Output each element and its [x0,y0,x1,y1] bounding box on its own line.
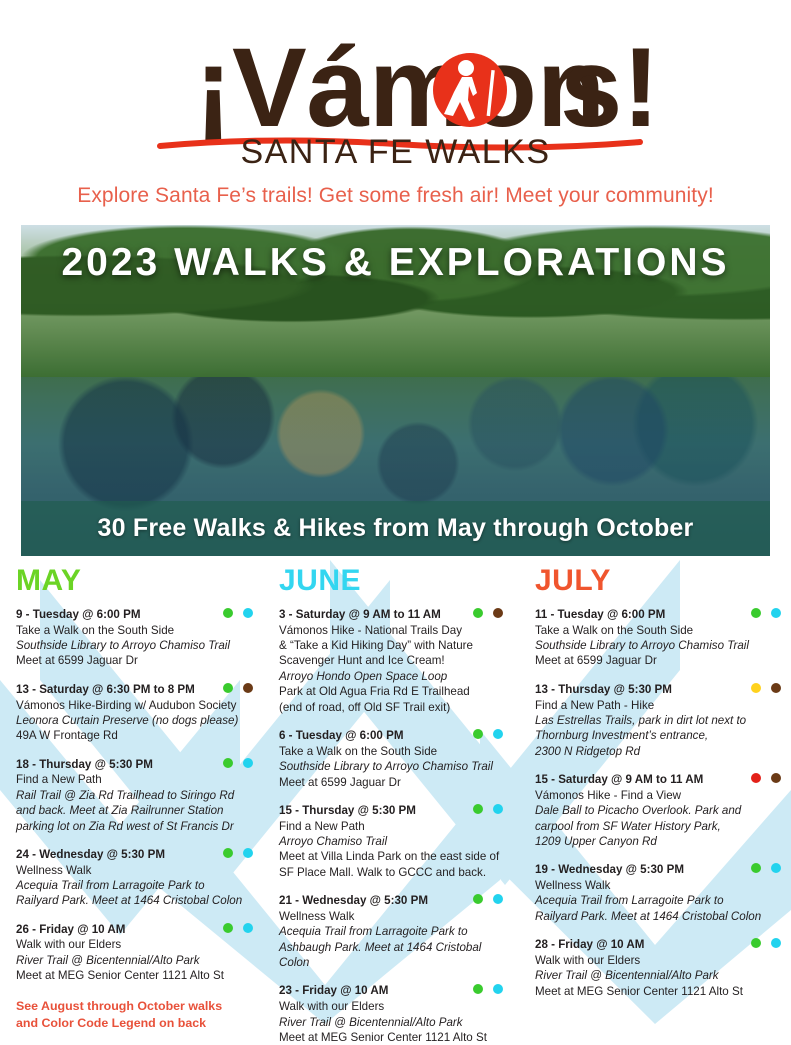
event-meet: Meet at Villa Linda Park on the east sid… [279,849,511,864]
event-name-2: & “Take a Kid Hiking Day” with Nature [279,638,511,653]
wordmark-text-tail: s! [560,25,660,150]
color-code-dots [473,984,503,994]
hero-banner: 2023 WALKS & EXPLORATIONS 30 Free Walks … [21,225,770,556]
dot-green [223,848,233,858]
color-code-dots [751,938,781,948]
event-item[interactable]: 26 - Friday @ 10 AM Walk with our Elders… [16,922,255,984]
dot-green [473,729,483,739]
color-code-dots [223,758,253,768]
event-datetime: 19 - Wednesday @ 5:30 PM [535,862,783,878]
logo-subtitle: SANTA FE WALKS [0,133,791,172]
event-meet: Meet at 6599 Jaguar Dr [16,653,255,668]
dot-brown [493,608,503,618]
event-datetime: 11 - Tuesday @ 6:00 PM [535,607,783,623]
color-code-dots [473,894,503,904]
month-column-june: JUNE 3 - Saturday @ 9 AM to 11 AM Vámono… [263,566,519,1024]
dot-green [223,758,233,768]
dot-cyan [243,608,253,618]
dot-cyan [493,984,503,994]
event-item[interactable]: 15 - Thursday @ 5:30 PM Find a New Path … [279,803,511,880]
event-route: Acequia Trail from Larragoite Park to [279,924,511,939]
event-item[interactable]: 28 - Friday @ 10 AM Walk with our Elders… [535,937,783,999]
event-name: Walk with our Elders [535,953,783,968]
note-line-1: See August through October walks [16,998,255,1015]
event-meet: Railyard Park. Meet at 1464 Cristobal Co… [535,909,783,924]
event-route-2: Thornburg Investment’s entrance, [535,728,783,743]
event-meet: 49A W Frontage Rd [16,728,255,743]
month-heading-may: MAY [16,566,255,596]
event-item[interactable]: 13 - Thursday @ 5:30 PM Find a New Path … [535,682,783,759]
event-item[interactable]: 15 - Saturday @ 9 AM to 11 AM Vámonos Hi… [535,772,783,849]
color-code-dots [473,608,503,618]
event-meet-2: SF Place Mall. Walk to GCCC and back. [279,865,511,880]
event-name: Walk with our Elders [16,937,255,952]
dot-cyan [493,804,503,814]
dot-green [751,608,761,618]
event-name: Wellness Walk [535,878,783,893]
event-meet: Park at Old Agua Fria Rd E Trailhead [279,684,511,699]
color-code-dots [473,804,503,814]
event-route: Acequia Trail from Larragoite Park to [535,893,783,908]
dot-cyan [771,938,781,948]
event-route-2: carpool from SF Water History Park, [535,819,783,834]
dot-cyan [771,608,781,618]
dot-cyan [493,729,503,739]
event-name: Walk with our Elders [279,999,511,1014]
event-name-3: Scavenger Hunt and Ice Cream! [279,653,511,668]
event-item[interactable]: 19 - Wednesday @ 5:30 PM Wellness Walk A… [535,862,783,924]
tagline: Explore Santa Fe’s trails! Get some fres… [0,184,791,208]
dot-green [223,683,233,693]
event-datetime: 15 - Saturday @ 9 AM to 11 AM [535,772,783,788]
event-name: Find a New Path [16,772,255,787]
event-route: Rail Trail @ Zia Rd Trailhead to Siringo… [16,788,255,803]
event-route-2: and back. Meet at Zia Railrunner Station [16,803,255,818]
event-route: River Trail @ Bicentennial/Alto Park [279,1015,511,1030]
logo-header: ¡Vámon s! SANTA FE WALKS [0,0,791,178]
dot-green [223,608,233,618]
event-datetime: 24 - Wednesday @ 5:30 PM [16,847,255,863]
event-name: Wellness Walk [16,863,255,878]
event-meet: 2300 N Ridgetop Rd [535,744,783,759]
dot-cyan [243,758,253,768]
event-route: Dale Ball to Picacho Overlook. Park and [535,803,783,818]
calendar-columns: MAY 9 - Tuesday @ 6:00 PM Take a Walk on… [0,566,791,1024]
event-name: Find a New Path - Hike [535,698,783,713]
event-name: Wellness Walk [279,909,511,924]
event-route: Arroyo Chamiso Trail [279,834,511,849]
event-meet: Meet at 6599 Jaguar Dr [279,775,511,790]
event-name: Vámonos Hike - National Trails Day [279,623,511,638]
color-code-dots [223,608,253,618]
color-code-dots [751,773,781,783]
month-column-july: JULY 11 - Tuesday @ 6:00 PM Take a Walk … [519,566,791,1024]
event-route: Leonora Curtain Preserve (no dogs please… [16,713,255,728]
back-page-note: See August through October walks and Col… [16,998,255,1032]
event-item[interactable]: 24 - Wednesday @ 5:30 PM Wellness Walk A… [16,847,255,909]
month-heading-june: JUNE [279,566,511,596]
event-datetime: 13 - Saturday @ 6:30 PM to 8 PM [16,682,255,698]
dot-green [223,923,233,933]
month-heading-july: JULY [535,566,783,596]
color-code-dots [751,863,781,873]
wordmark-text: ¡Vámon [195,25,606,150]
dot-green [751,938,761,948]
dot-green [473,804,483,814]
dot-green [473,984,483,994]
event-route: Acequia Trail from Larragoite Park to [16,878,255,893]
event-meet: parking lot on Zia Rd west of St Francis… [16,819,255,834]
hero-title: 2023 WALKS & EXPLORATIONS [21,241,770,285]
color-code-dots [751,683,781,693]
event-item[interactable]: 23 - Friday @ 10 AM Walk with our Elders… [279,983,511,1045]
event-route: Southside Library to Arroyo Chamiso Trai… [535,638,783,653]
dot-brown [771,773,781,783]
event-name: Find a New Path [279,819,511,834]
dot-cyan [493,894,503,904]
event-meet: Meet at MEG Senior Center 1121 Alto St [279,1030,511,1045]
event-datetime: 9 - Tuesday @ 6:00 PM [16,607,255,623]
color-code-dots [223,923,253,933]
dot-green [751,863,761,873]
event-route: River Trail @ Bicentennial/Alto Park [535,968,783,983]
dot-red [751,773,761,783]
event-route: Southside Library to Arroyo Chamiso Trai… [16,638,255,653]
dot-cyan [771,863,781,873]
month-column-may: MAY 9 - Tuesday @ 6:00 PM Take a Walk on… [0,566,263,1024]
event-route: Las Estrellas Trails, park in dirt lot n… [535,713,783,728]
hero-band-text: 30 Free Walks & Hikes from May through O… [98,514,694,543]
event-meet: Railyard Park. Meet at 1464 Cristobal Co… [16,893,255,908]
event-item[interactable]: 6 - Tuesday @ 6:00 PM Take a Walk on the… [279,728,511,790]
event-route: Arroyo Hondo Open Space Loop [279,669,511,684]
event-meet: 1209 Upper Canyon Rd [535,834,783,849]
event-name: Vámonos Hike-Birding w/ Audubon Society [16,698,255,713]
event-datetime: 26 - Friday @ 10 AM [16,922,255,938]
hero-band: 30 Free Walks & Hikes from May through O… [21,501,770,556]
event-name: Take a Walk on the South Side [16,623,255,638]
event-item[interactable]: 21 - Wednesday @ 5:30 PM Wellness Walk A… [279,893,511,970]
event-item[interactable]: 18 - Thursday @ 5:30 PM Find a New Path … [16,757,255,834]
dot-brown [771,683,781,693]
note-line-2: and Color Code Legend on back [16,1015,255,1032]
event-route: Southside Library to Arroyo Chamiso Trai… [279,759,511,774]
color-code-dots [473,729,503,739]
event-datetime: 18 - Thursday @ 5:30 PM [16,757,255,773]
color-code-dots [223,848,253,858]
event-item[interactable]: 9 - Tuesday @ 6:00 PM Take a Walk on the… [16,607,255,669]
dot-green [473,608,483,618]
event-name: Vámonos Hike - Find a View [535,788,783,803]
dot-green [473,894,483,904]
event-route: River Trail @ Bicentennial/Alto Park [16,953,255,968]
event-meet: Meet at MEG Senior Center 1121 Alto St [16,968,255,983]
event-meet: Meet at MEG Senior Center 1121 Alto St [535,984,783,999]
color-code-dots [223,683,253,693]
event-meet: Ashbaugh Park. Meet at 1464 Cristobal Co… [279,940,511,971]
dot-cyan [243,848,253,858]
event-name: Take a Walk on the South Side [279,744,511,759]
dot-cyan [243,923,253,933]
dot-brown [243,683,253,693]
event-name: Take a Walk on the South Side [535,623,783,638]
dot-yellow [751,683,761,693]
event-item[interactable]: 13 - Saturday @ 6:30 PM to 8 PM Vámonos … [16,682,255,744]
event-meet: Meet at 6599 Jaguar Dr [535,653,783,668]
event-item[interactable]: 11 - Tuesday @ 6:00 PM Take a Walk on th… [535,607,783,669]
event-meet-2: (end of road, off Old SF Trail exit) [279,700,511,715]
event-datetime: 13 - Thursday @ 5:30 PM [535,682,783,698]
color-code-dots [751,608,781,618]
event-item[interactable]: 3 - Saturday @ 9 AM to 11 AM Vámonos Hik… [279,607,511,715]
event-datetime: 28 - Friday @ 10 AM [535,937,783,953]
